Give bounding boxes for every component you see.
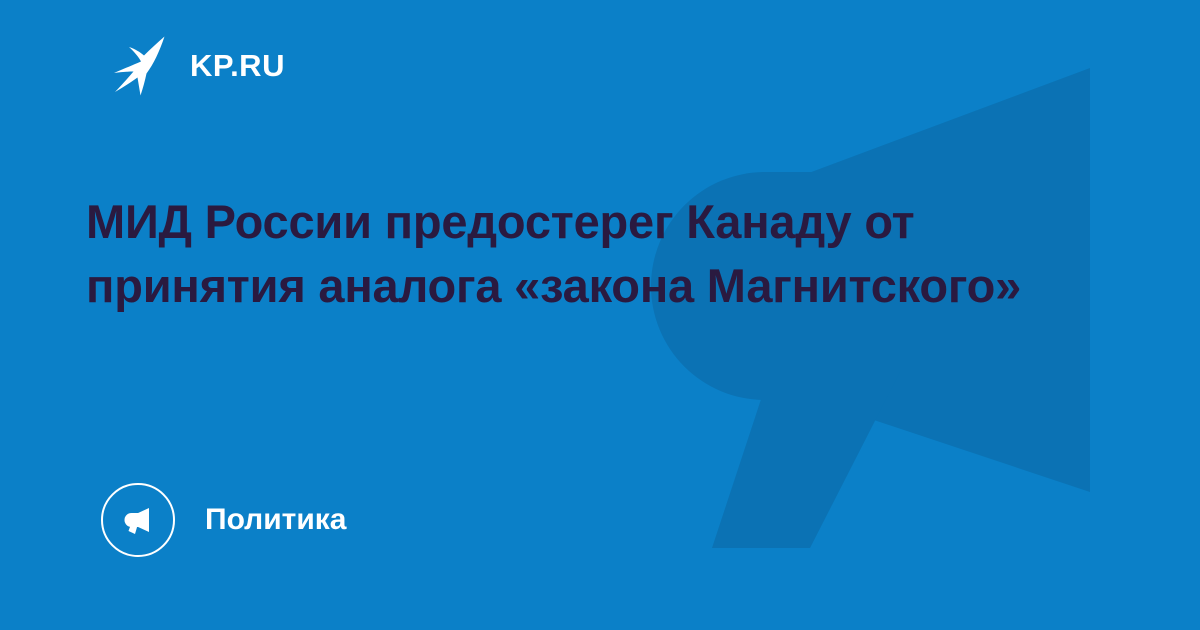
category-badge[interactable]: Политика — [101, 482, 346, 558]
megaphone-icon — [101, 483, 175, 557]
page-title: МИД России предостерег Канаду от приняти… — [86, 190, 1096, 318]
social-share-card: KP.RU МИД России предостерег Канаду от п… — [0, 0, 1200, 630]
brand-header[interactable]: KP.RU — [104, 34, 285, 96]
category-label: Политика — [205, 505, 346, 535]
swallow-bird-logo-icon — [104, 34, 168, 96]
brand-name: KP.RU — [190, 50, 285, 81]
